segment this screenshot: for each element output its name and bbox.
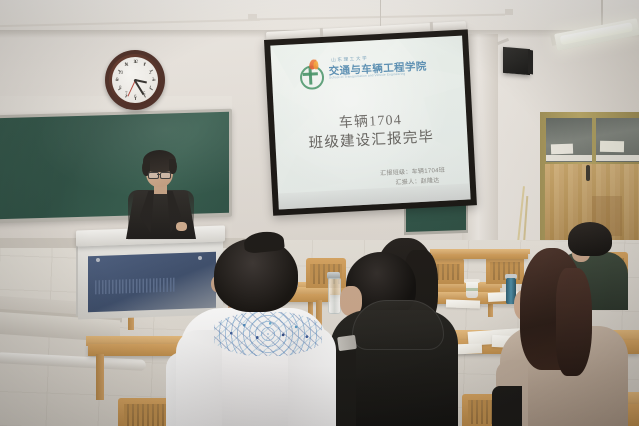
student-beige-coat-hair-strand — [556, 268, 592, 376]
wall-speaker-icon — [503, 47, 530, 75]
desk-leg — [96, 354, 104, 400]
lectern-vent-grille — [95, 278, 175, 295]
clock-numeral: 11 — [124, 63, 129, 68]
paper-cup-band — [466, 288, 478, 291]
door-handle[interactable] — [586, 165, 590, 181]
clock-numeral: 4 — [149, 86, 152, 91]
papers — [446, 299, 480, 308]
clock-numeral: 12 — [133, 60, 138, 65]
school-emblem-icon — [297, 59, 325, 87]
chalkboard — [0, 109, 232, 224]
clock-numeral: 9 — [116, 78, 119, 83]
classroom-photo: 12 1 2 3 4 5 6 7 8 9 10 11 — [0, 0, 639, 426]
door-shelf-item-1 — [551, 144, 573, 155]
door-window-mullion — [592, 118, 596, 162]
projection-screen-surface: 山东理工大学 交通与车辆工程学院 School of Transportatio… — [270, 36, 470, 210]
light-suspension-rod — [601, 0, 603, 26]
student-back-row-hair — [568, 222, 612, 256]
conduit-junction-box-2 — [505, 9, 513, 15]
clock-numeral: 1 — [143, 63, 146, 68]
clock-numeral: 3 — [152, 78, 155, 83]
glasses-icon-right — [160, 172, 171, 179]
door-shelf-item-2 — [600, 141, 624, 152]
student-beige-coat-bag — [492, 386, 522, 426]
projection-screen: 山东理工大学 交通与车辆工程学院 School of Transportatio… — [264, 29, 477, 215]
wall-clock: 12 1 2 3 4 5 6 7 8 9 10 11 — [105, 50, 165, 110]
lectern-fastener — [198, 256, 202, 260]
screen-bracket-left — [320, 28, 323, 37]
lectern-fastener — [96, 258, 100, 262]
desk-top — [430, 249, 530, 254]
wall-speaker-side — [528, 50, 533, 75]
presenter-jacket — [126, 191, 196, 239]
clock-numeral: 2 — [149, 71, 152, 76]
clock-numeral: 8 — [119, 86, 122, 91]
clock-center-pin — [134, 79, 137, 82]
student-white-shirt-shoulder-left — [176, 330, 222, 426]
student-hoodie-logo — [337, 335, 357, 351]
clock-numeral: 10 — [118, 71, 123, 76]
clock-numeral: 6 — [134, 95, 137, 100]
chalkboard-glare — [0, 109, 232, 224]
student-hoodie-hood-edge — [352, 300, 444, 350]
clock-face: 12 1 2 3 4 5 6 7 8 9 10 11 — [112, 57, 158, 103]
chair-slats — [124, 404, 166, 426]
water-bottle — [328, 278, 341, 314]
screen-suspension-wire — [380, 0, 381, 28]
student-white-shirt-pattern — [214, 312, 322, 356]
glasses-bridge — [157, 174, 160, 175]
presenter-hand — [176, 222, 187, 231]
